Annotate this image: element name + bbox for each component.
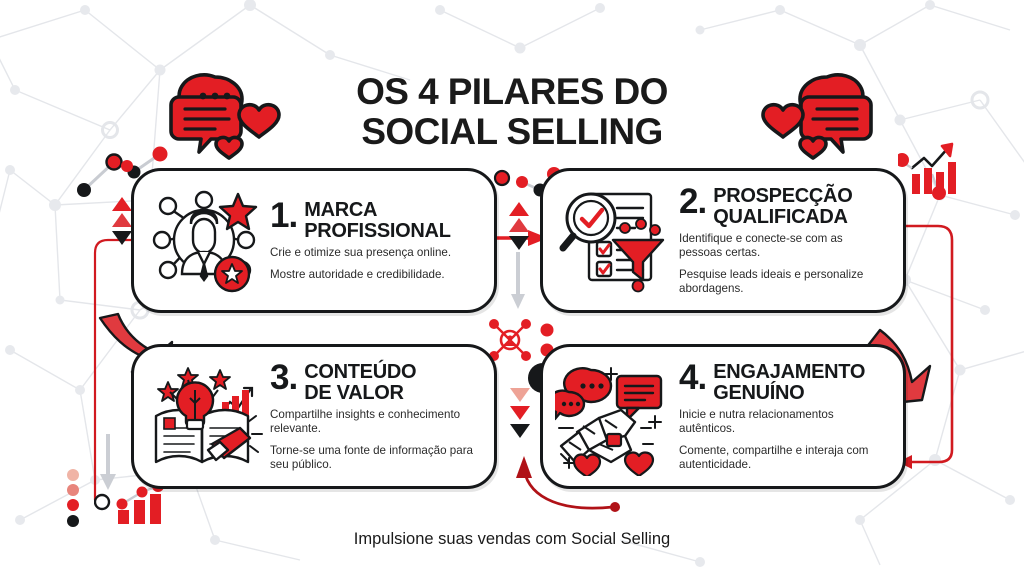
card-3-heading: 3. CONTEÚDO DE VALOR (270, 361, 480, 403)
triangles-marker-center-icon (507, 200, 531, 252)
title-line-2: SOCIAL SELLING (0, 112, 1024, 152)
card-4-number: 4. (679, 363, 706, 393)
pillar-card-3[interactable]: 3. CONTEÚDO DE VALOR Compartilhe insight… (131, 344, 497, 489)
value-content-icon (146, 358, 266, 476)
card-2-number: 2. (679, 187, 706, 217)
card-1-title-line-1: MARCA (304, 199, 450, 220)
footer-tagline: Impulsione suas vendas com Social Sellin… (0, 530, 1024, 549)
genuine-engagement-icon (555, 358, 675, 476)
card-2-heading: 2. PROSPECÇÃO QUALIFICADA (679, 185, 889, 227)
card-2-paragraph-1: Identifique e conecte-se com as pessoas … (679, 232, 889, 260)
infographic-canvas: OS 4 PILARES DO SOCIAL SELLING (0, 0, 1024, 572)
card-1-heading: 1. MARCA PROFISSIONAL (270, 199, 480, 241)
pillar-card-4[interactable]: 4. ENGAJAMENTO GENUÍNO Inicie e nutra re… (540, 344, 906, 489)
card-4-paragraph-1: Inicie e nutra relacionamentos autêntico… (679, 408, 889, 436)
card-3-title-line-1: CONTEÚDO (304, 361, 416, 382)
card-1-title-line-2: PROFISSIONAL (304, 220, 450, 241)
card-4-heading: 4. ENGAJAMENTO GENUÍNO (679, 361, 889, 403)
card-4-title-line-2: GENUÍNO (713, 382, 865, 403)
card-2-title-line-1: PROSPECÇÃO (713, 185, 852, 206)
card-3-number: 3. (270, 363, 297, 393)
pillar-card-1[interactable]: 1. MARCA PROFISSIONAL Crie e otimize sua… (131, 168, 497, 313)
triangles-down-center-icon (508, 386, 532, 442)
card-2-title-line-2: QUALIFICADA (713, 206, 852, 227)
card-4-title-line-1: ENGAJAMENTO (713, 361, 865, 382)
card-3-body: 3. CONTEÚDO DE VALOR Compartilhe insight… (266, 361, 494, 473)
card-1-paragraph-2: Mostre autoridade e credibilidade. (270, 268, 480, 282)
network-node-center-icon (486, 316, 534, 364)
card-4-body: 4. ENGAJAMENTO GENUÍNO Inicie e nutra re… (675, 361, 903, 473)
card-1-body: 1. MARCA PROFISSIONAL Crie e otimize sua… (266, 199, 494, 282)
card-2-paragraph-2: Pesquise leads ideais e personalize abor… (679, 268, 889, 296)
page-title: OS 4 PILARES DO SOCIAL SELLING (0, 72, 1024, 152)
card-3-title-line-2: DE VALOR (304, 382, 416, 403)
professional-brand-icon (146, 182, 266, 300)
card-4-paragraph-2: Comente, compartilhe e interaja com aute… (679, 444, 889, 472)
card-1-number: 1. (270, 201, 297, 231)
card-3-paragraph-1: Compartilhe insights e conhecimento rele… (270, 408, 480, 436)
dot-column-bottom-left-icon (64, 468, 82, 530)
card-2-body: 2. PROSPECÇÃO QUALIFICADA Identifique e … (675, 185, 903, 297)
gray-down-arrow-center (511, 252, 525, 309)
pillar-card-2[interactable]: 2. PROSPECÇÃO QUALIFICADA Identifique e … (540, 168, 906, 313)
qualified-prospecting-icon (555, 182, 675, 300)
card-3-paragraph-2: Torne-se uma fonte de informação para se… (270, 444, 480, 472)
title-line-1: OS 4 PILARES DO (0, 72, 1024, 112)
card-1-paragraph-1: Crie e otimize sua presença online. (270, 246, 480, 260)
